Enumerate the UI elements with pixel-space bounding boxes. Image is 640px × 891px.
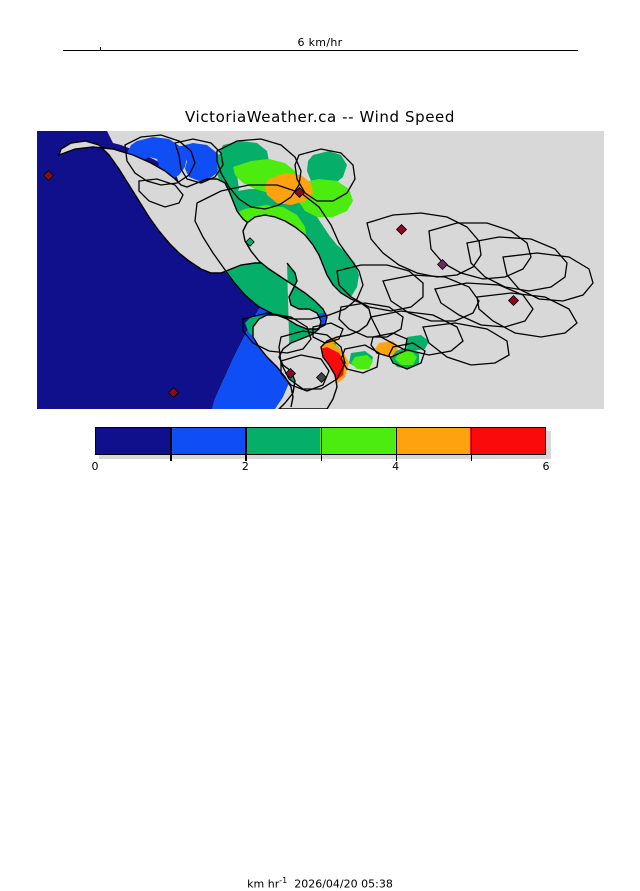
colorbar-segment[interactable] <box>470 428 545 454</box>
colorbar-divider <box>471 427 473 461</box>
colorbar-divider <box>170 427 172 461</box>
colorbar-segment[interactable] <box>246 428 321 454</box>
timestamp-text: 2026/04/20 05:38 <box>294 878 393 891</box>
colorbar-units-and-timestamp: km hr-1 2026/04/20 05:38 <box>0 876 640 891</box>
colorbar-tick-label: 0 <box>92 460 99 473</box>
colorbar-divider <box>245 427 247 461</box>
scale-bar-tick <box>100 47 101 51</box>
colorbar-divider <box>321 427 323 461</box>
wind-vector-scale-bar: 6 km/hr <box>0 0 640 95</box>
colorbar-legend: 0246 km hr-1 2026/04/20 05:38 <box>0 415 640 480</box>
scale-bar-line <box>63 50 578 51</box>
colorbar-segment[interactable] <box>395 428 470 454</box>
colorbar-units-text: km hr <box>247 878 279 891</box>
colorbar-tick-label: 4 <box>392 460 399 473</box>
colorbar-segment[interactable] <box>171 428 246 454</box>
wind-speed-map[interactable] <box>37 131 604 409</box>
colorbar-segment[interactable] <box>320 428 395 454</box>
page-title: VictoriaWeather.ca -- Wind Speed <box>0 108 640 126</box>
map-canvas <box>37 131 604 409</box>
colorbar-units-exponent: -1 <box>279 876 287 885</box>
colorbar-segment[interactable] <box>96 428 171 454</box>
colorbar-divider <box>396 427 398 461</box>
scale-bar-label: 6 km/hr <box>0 36 640 49</box>
colorbar-tick-label: 2 <box>242 460 249 473</box>
colorbar-tick-label: 6 <box>543 460 550 473</box>
